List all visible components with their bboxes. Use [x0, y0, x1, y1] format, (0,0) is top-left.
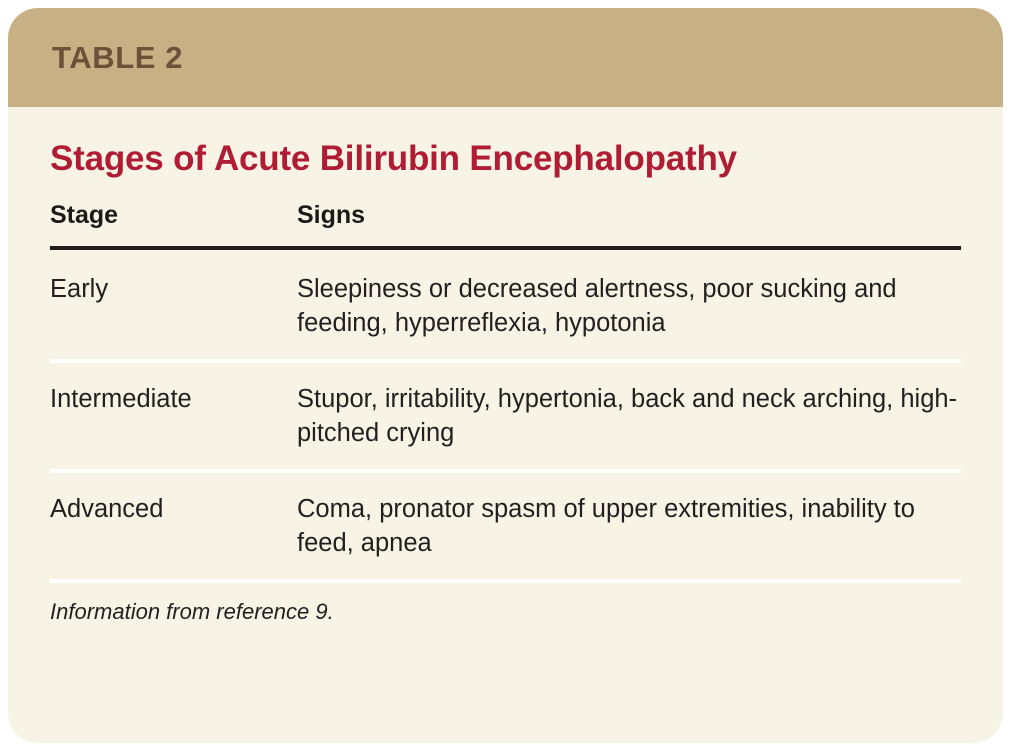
column-header-signs: Signs — [297, 201, 961, 248]
column-header-stage: Stage — [50, 201, 297, 248]
table-body: Stages of Acute Bilirubin Encephalopathy… — [8, 140, 1003, 625]
table-row: Intermediate Stupor, irritability, hyper… — [50, 361, 961, 471]
table-card: TABLE 2 Stages of Acute Bilirubin Enceph… — [8, 8, 1003, 743]
table-footnote: Information from reference 9. — [50, 583, 961, 625]
stages-table: Stage Signs Early Sleepiness or decrease… — [50, 201, 961, 584]
table-row: Early Sleepiness or decreased alertness,… — [50, 248, 961, 361]
table-number-label: TABLE 2 — [52, 40, 183, 76]
cell-signs: Sleepiness or decreased alertness, poor … — [297, 248, 961, 361]
cell-stage: Intermediate — [50, 361, 297, 471]
table-title: Stages of Acute Bilirubin Encephalopathy — [50, 140, 961, 179]
table-body-rows: Early Sleepiness or decreased alertness,… — [50, 248, 961, 582]
table-row: Advanced Coma, pronator spasm of upper e… — [50, 471, 961, 581]
table-header-row: Stage Signs — [50, 201, 961, 248]
cell-signs: Stupor, irritability, hypertonia, back a… — [297, 361, 961, 471]
table-head: Stage Signs — [50, 201, 961, 248]
cell-stage: Advanced — [50, 471, 297, 581]
cell-signs: Coma, pronator spasm of upper extremitie… — [297, 471, 961, 581]
cell-stage: Early — [50, 248, 297, 361]
table-header-band: TABLE 2 — [8, 8, 1003, 107]
